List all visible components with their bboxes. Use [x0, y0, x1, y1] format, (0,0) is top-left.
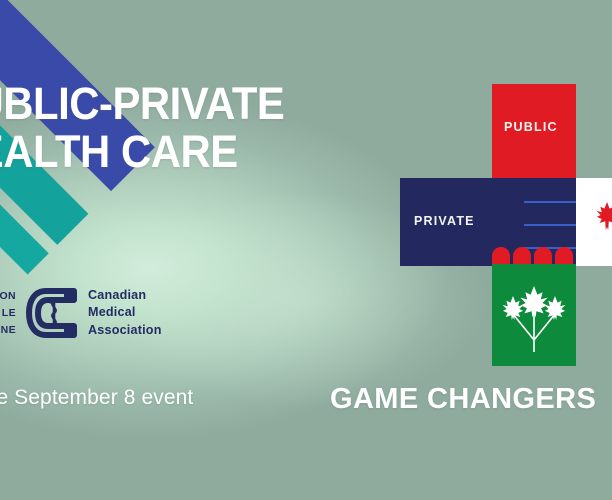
- logo-english-line-1: Canadian: [88, 287, 162, 304]
- page-title: PUBLIC-PRIVATE HEALTH CARE: [0, 82, 284, 174]
- private-label: PRIVATE: [414, 214, 475, 228]
- maple-leaf-icon: [594, 201, 612, 231]
- logo-french-line-2: LE: [0, 305, 16, 322]
- logo-english-text: Canadian Medical Association: [88, 287, 162, 339]
- series-title: GAME CHANGERS: [330, 383, 596, 416]
- cma-c-caduceus-icon: [24, 283, 80, 343]
- headline-line-1: PUBLIC-PRIVATE: [0, 78, 284, 129]
- public-private-illustration: PUBLIC PRIVATE: [396, 84, 612, 366]
- logo-french-line-3: NE: [0, 322, 16, 339]
- event-cta-text[interactable]: for the September 8 event: [0, 386, 193, 410]
- logo-english-line-2: Medical: [88, 304, 162, 321]
- private-block-line-1: [524, 201, 576, 203]
- three-maple-leaves-icon: [499, 280, 569, 356]
- logo-french-line-1: ON: [0, 288, 16, 305]
- private-block-line-2: [524, 224, 576, 226]
- headline-line-2: HEALTH CARE: [0, 130, 284, 174]
- cma-logo: ON LE NE Canadian Medical Association: [0, 283, 162, 343]
- logo-french-text: ON LE NE: [0, 288, 16, 339]
- logo-english-line-3: Association: [88, 322, 162, 339]
- public-label: PUBLIC: [504, 120, 558, 134]
- promo-banner: PUBLIC-PRIVATE HEALTH CARE ON LE NE Cana…: [0, 0, 612, 500]
